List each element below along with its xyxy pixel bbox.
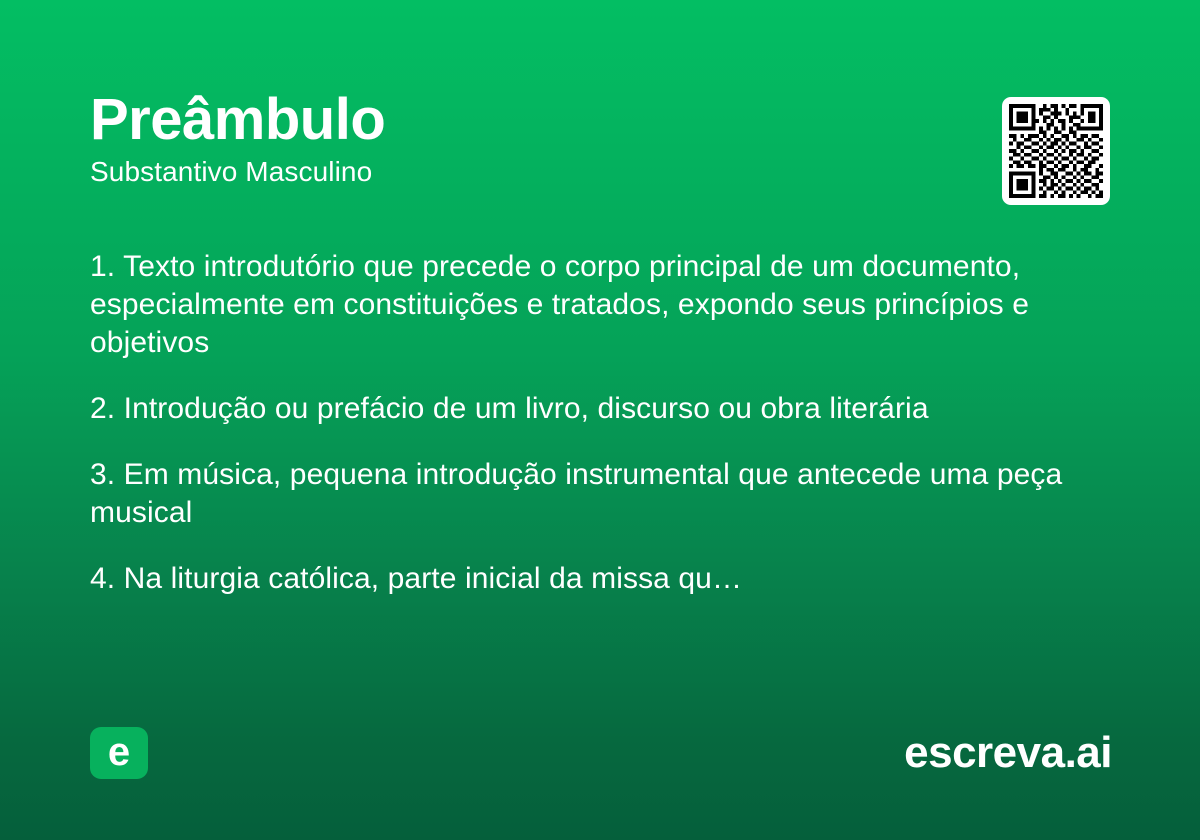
brand-name: escreva.ai	[904, 727, 1112, 779]
card-header: Preâmbulo Substantivo Masculino	[90, 88, 970, 188]
logo-letter: e	[108, 732, 130, 772]
dictionary-card: Preâmbulo Substantivo Masculino 1. Texto…	[0, 0, 1200, 840]
word-class-label: Substantivo Masculino	[90, 156, 970, 188]
definition-item: 2. Introdução ou prefácio de um livro, d…	[90, 390, 1100, 428]
definition-item: 3. Em música, pequena introdução instrum…	[90, 456, 1100, 532]
definition-list: 1. Texto introdutório que precede o corp…	[90, 248, 1100, 598]
page-title: Preâmbulo	[90, 88, 970, 152]
definition-item: 4. Na liturgia católica, parte inicial d…	[90, 560, 1100, 598]
definition-item: 1. Texto introdutório que precede o corp…	[90, 248, 1100, 362]
escreva-logo-icon[interactable]: e	[90, 727, 148, 779]
qr-code-card[interactable]	[1002, 97, 1110, 205]
qr-code-icon	[1009, 104, 1103, 198]
